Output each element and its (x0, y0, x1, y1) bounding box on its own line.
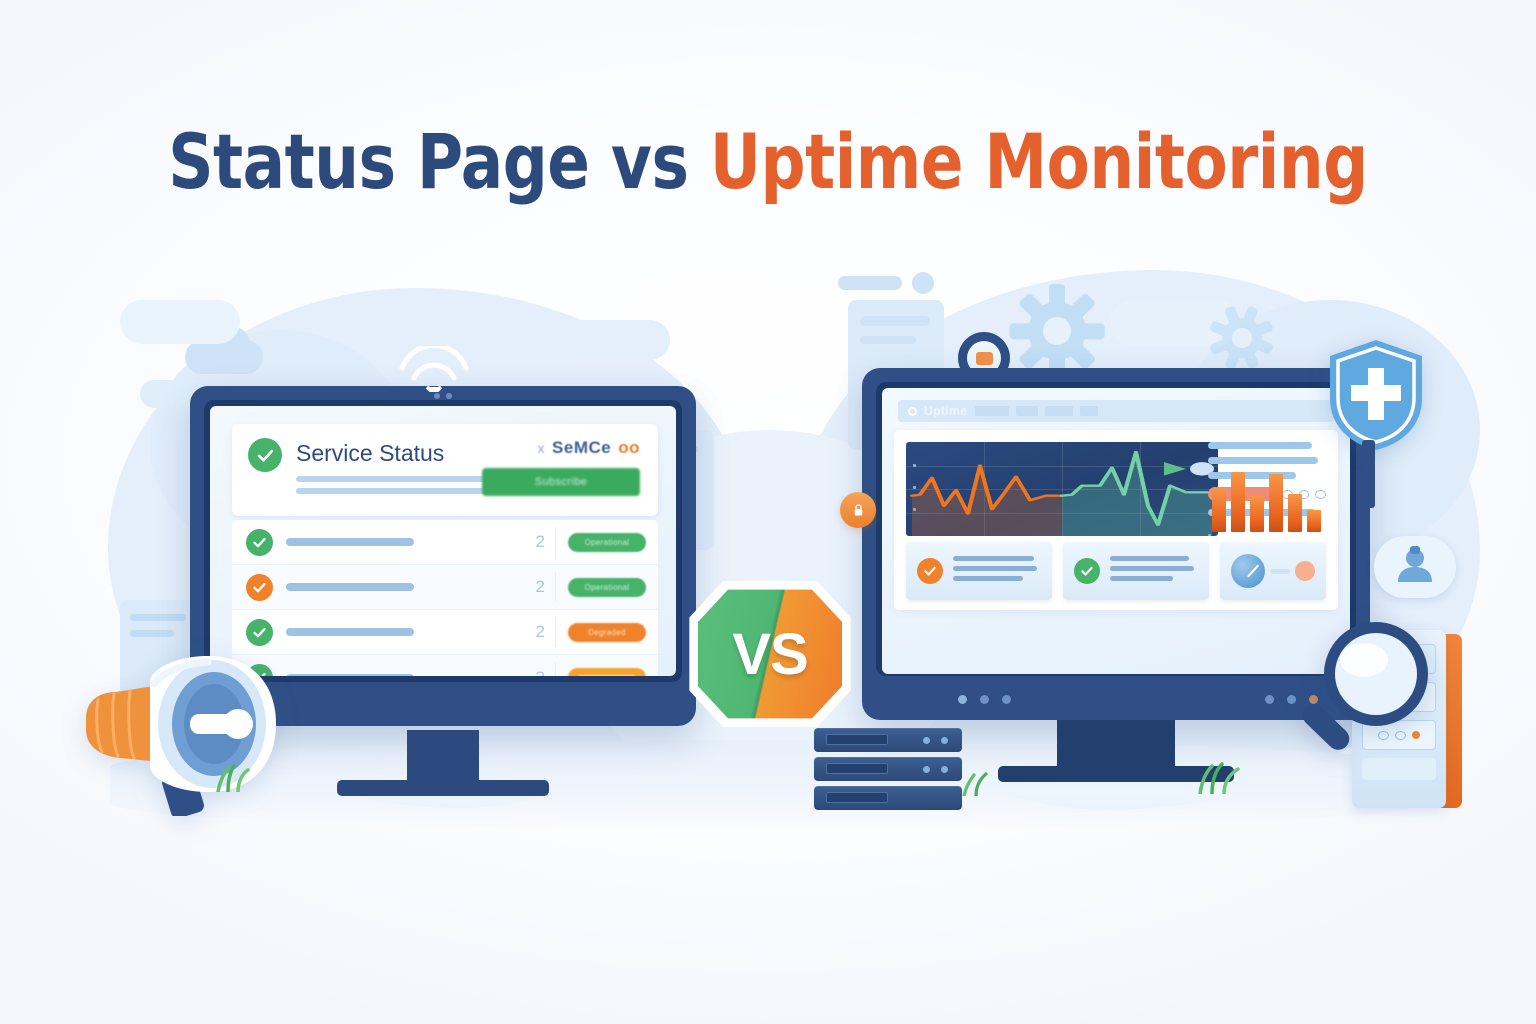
topbar-segment (1045, 406, 1073, 416)
shield-stand (1362, 440, 1375, 508)
brand-prefix: x (538, 440, 546, 456)
row-divider (555, 527, 556, 557)
grass-decor-left (212, 762, 258, 792)
magnifying-glass-icon (1290, 612, 1440, 772)
circle-icon (908, 407, 917, 416)
dashboard-sidebar (1208, 442, 1326, 536)
server-unit (814, 786, 962, 810)
bar (1269, 474, 1283, 532)
decor-document-right-3 (912, 272, 934, 294)
check-circle-icon (248, 438, 282, 472)
check-circle-icon (246, 529, 273, 556)
cloud-user-icon (1374, 536, 1456, 598)
row-divider (555, 617, 556, 647)
series-orange-area (912, 466, 1062, 537)
title-accent: Uptime Monitoring (710, 117, 1368, 206)
decor-document-line-6 (860, 316, 930, 326)
uptime-value: 3 (536, 668, 551, 677)
status-card-warning[interactable] (906, 542, 1052, 600)
grass-decor-center (958, 770, 998, 796)
play-marker-icon (1164, 462, 1186, 475)
sidebar-bar-chart (1212, 452, 1326, 532)
check-circle-icon (1074, 558, 1100, 584)
gauge-icon (1231, 554, 1265, 588)
status-card-ok[interactable] (1063, 542, 1209, 600)
drive-slot (826, 792, 888, 803)
response-time-chart (906, 442, 1218, 536)
server-rack-icon (814, 728, 962, 812)
service-name-placeholder (286, 538, 414, 546)
status-card-gauge[interactable] (1220, 542, 1326, 600)
server-unit (814, 728, 962, 752)
dashboard-status-cards (906, 542, 1326, 600)
sidebar-text-line (1208, 442, 1312, 449)
topbar-segment (1080, 406, 1098, 416)
bar (1250, 496, 1264, 532)
uptime-dashboard-screen: Uptime (882, 388, 1350, 674)
service-status-header-card: Service Status x SeMCeoo Subscribe (232, 424, 658, 516)
led-indicator (923, 766, 930, 773)
bar (1231, 472, 1245, 532)
indicator-dot (1265, 695, 1274, 704)
drive-slot (826, 734, 888, 745)
service-name-placeholder (286, 583, 414, 591)
page-title: Status Page vs Uptime Monitoring (61, 124, 1474, 200)
webcam-dots (434, 393, 452, 399)
header-right-group: x SeMCeoo Subscribe (482, 438, 640, 496)
alert-circle-icon (1295, 561, 1315, 581)
led-indicator (923, 737, 930, 744)
decor-document-line-7 (860, 336, 916, 344)
server-unit (814, 757, 962, 781)
bar (1307, 510, 1321, 532)
cloud-shape-4 (120, 300, 240, 344)
lock-icon (840, 492, 876, 528)
status-badge: Degraded (568, 623, 646, 642)
status-badge: Operational (568, 533, 646, 552)
card-text-lines (953, 556, 1041, 586)
service-name-placeholder (286, 628, 414, 636)
row-divider (555, 572, 556, 602)
decor-document-line-1 (130, 614, 186, 621)
gear-icon-1 (1028, 302, 1086, 360)
row-divider (555, 662, 556, 676)
vs-badge: VS (686, 578, 854, 730)
indicator-dot (1002, 695, 1011, 704)
bar (1288, 494, 1302, 532)
status-badge (568, 668, 646, 676)
brand-logo: x SeMCeoo (482, 438, 640, 458)
title-primary: Status Page vs (168, 117, 710, 206)
brand-text: SeMCe (552, 438, 611, 458)
table-row[interactable]: 2 Operational (232, 565, 658, 610)
dashboard-topbar: Uptime (898, 400, 1334, 422)
cloud-shape-5 (560, 320, 670, 360)
indicator-dot (980, 695, 989, 704)
header-placeholder-lines (296, 476, 468, 494)
bar (1212, 488, 1226, 532)
led-indicator (941, 737, 948, 744)
gear-body (1222, 318, 1262, 358)
megaphone-icon (62, 636, 332, 816)
uptime-value: 2 (536, 622, 551, 642)
monitor-neck (407, 730, 479, 784)
illustration-canvas: Service Status x SeMCeoo Subscribe (0, 0, 1536, 1024)
shield-cross-icon (1322, 336, 1430, 454)
gear-body (1028, 302, 1086, 360)
uptime-value: 2 (536, 532, 551, 552)
table-row[interactable]: 2 Operational (232, 520, 658, 565)
page-title: Service Status (296, 442, 468, 465)
dashboard-panel (894, 430, 1338, 610)
decor-document-right-2 (838, 276, 902, 290)
drive-slot (826, 763, 888, 774)
indicator-dot (958, 695, 967, 704)
uptime-value: 2 (536, 577, 551, 597)
status-badge: Operational (568, 578, 646, 597)
gear-icon-2 (1222, 318, 1262, 358)
connector-bar (1270, 569, 1290, 574)
wifi-icon (396, 346, 472, 392)
grass-decor-right (1194, 760, 1250, 794)
vs-label: VS (686, 578, 854, 730)
check-circle-icon (917, 558, 943, 584)
led-indicator (941, 766, 948, 773)
card-text-lines (1110, 556, 1198, 586)
subscribe-button[interactable]: Subscribe (482, 468, 640, 496)
topbar-label: Uptime (924, 404, 968, 418)
topbar-segment (975, 406, 1009, 416)
check-circle-icon (246, 574, 273, 601)
brand-accent: oo (618, 438, 640, 458)
monitor-base (337, 780, 549, 796)
chart-series-svg (906, 442, 1218, 536)
topbar-segment (1016, 406, 1038, 416)
